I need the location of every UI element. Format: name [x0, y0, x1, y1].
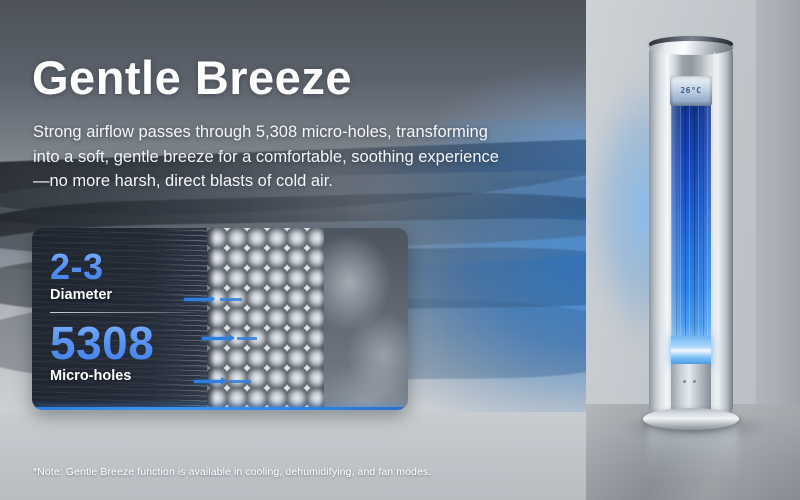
display-screen: 26°C: [673, 80, 709, 102]
stat-diameter-value: 2-3: [50, 248, 220, 286]
indicator-led-2: [693, 380, 696, 383]
airflow-arrow-2: [202, 337, 230, 340]
brand-mark: TCL: [645, 61, 737, 67]
airflow-arrow-1: [184, 298, 210, 301]
stats-group: 2-3 Diameter 5308 Micro-holes: [50, 248, 220, 384]
mist-effect: [324, 228, 408, 410]
unit-top-rim: [649, 41, 733, 55]
airflow-dash-3: [229, 380, 251, 383]
body-copy: Strong airflow passes through 5,308 micr…: [33, 120, 513, 194]
left-floor: [0, 412, 586, 500]
air-conditioner-unit: TCL 26°C: [645, 36, 737, 428]
unit-seam-left: [667, 52, 668, 408]
airflow-arrow-3: [194, 380, 222, 383]
display-reading: 26°C: [680, 87, 701, 95]
product-feature-banner: TCL 26°C Gentle Breeze Strong airflow pa…: [0, 0, 800, 500]
stat-micro-holes: 5308 Micro-holes: [50, 319, 220, 384]
airflow-dash-1: [220, 298, 242, 301]
airflow-dash-2: [237, 337, 257, 340]
vent-shine: [671, 94, 711, 344]
stat-divider: [50, 312, 202, 313]
feature-detail-card: 2-3 Diameter 5308 Micro-holes: [32, 228, 408, 410]
unit-seam-right: [714, 52, 715, 408]
stat-diameter: 2-3 Diameter: [50, 248, 220, 303]
room-wall-corner: [756, 0, 800, 404]
page-title: Gentle Breeze: [32, 50, 352, 105]
stat-micro-holes-value: 5308: [50, 319, 220, 367]
card-accent-bar: [34, 407, 406, 410]
footnote: *Note: Gentle Breeze function is availab…: [33, 466, 431, 478]
unit-base-ring: [651, 412, 731, 426]
base-glow-line: [671, 349, 711, 352]
control-display-panel: 26°C: [670, 76, 712, 106]
unit-floor-reflection: [648, 422, 738, 482]
indicator-led-1: [683, 380, 686, 383]
